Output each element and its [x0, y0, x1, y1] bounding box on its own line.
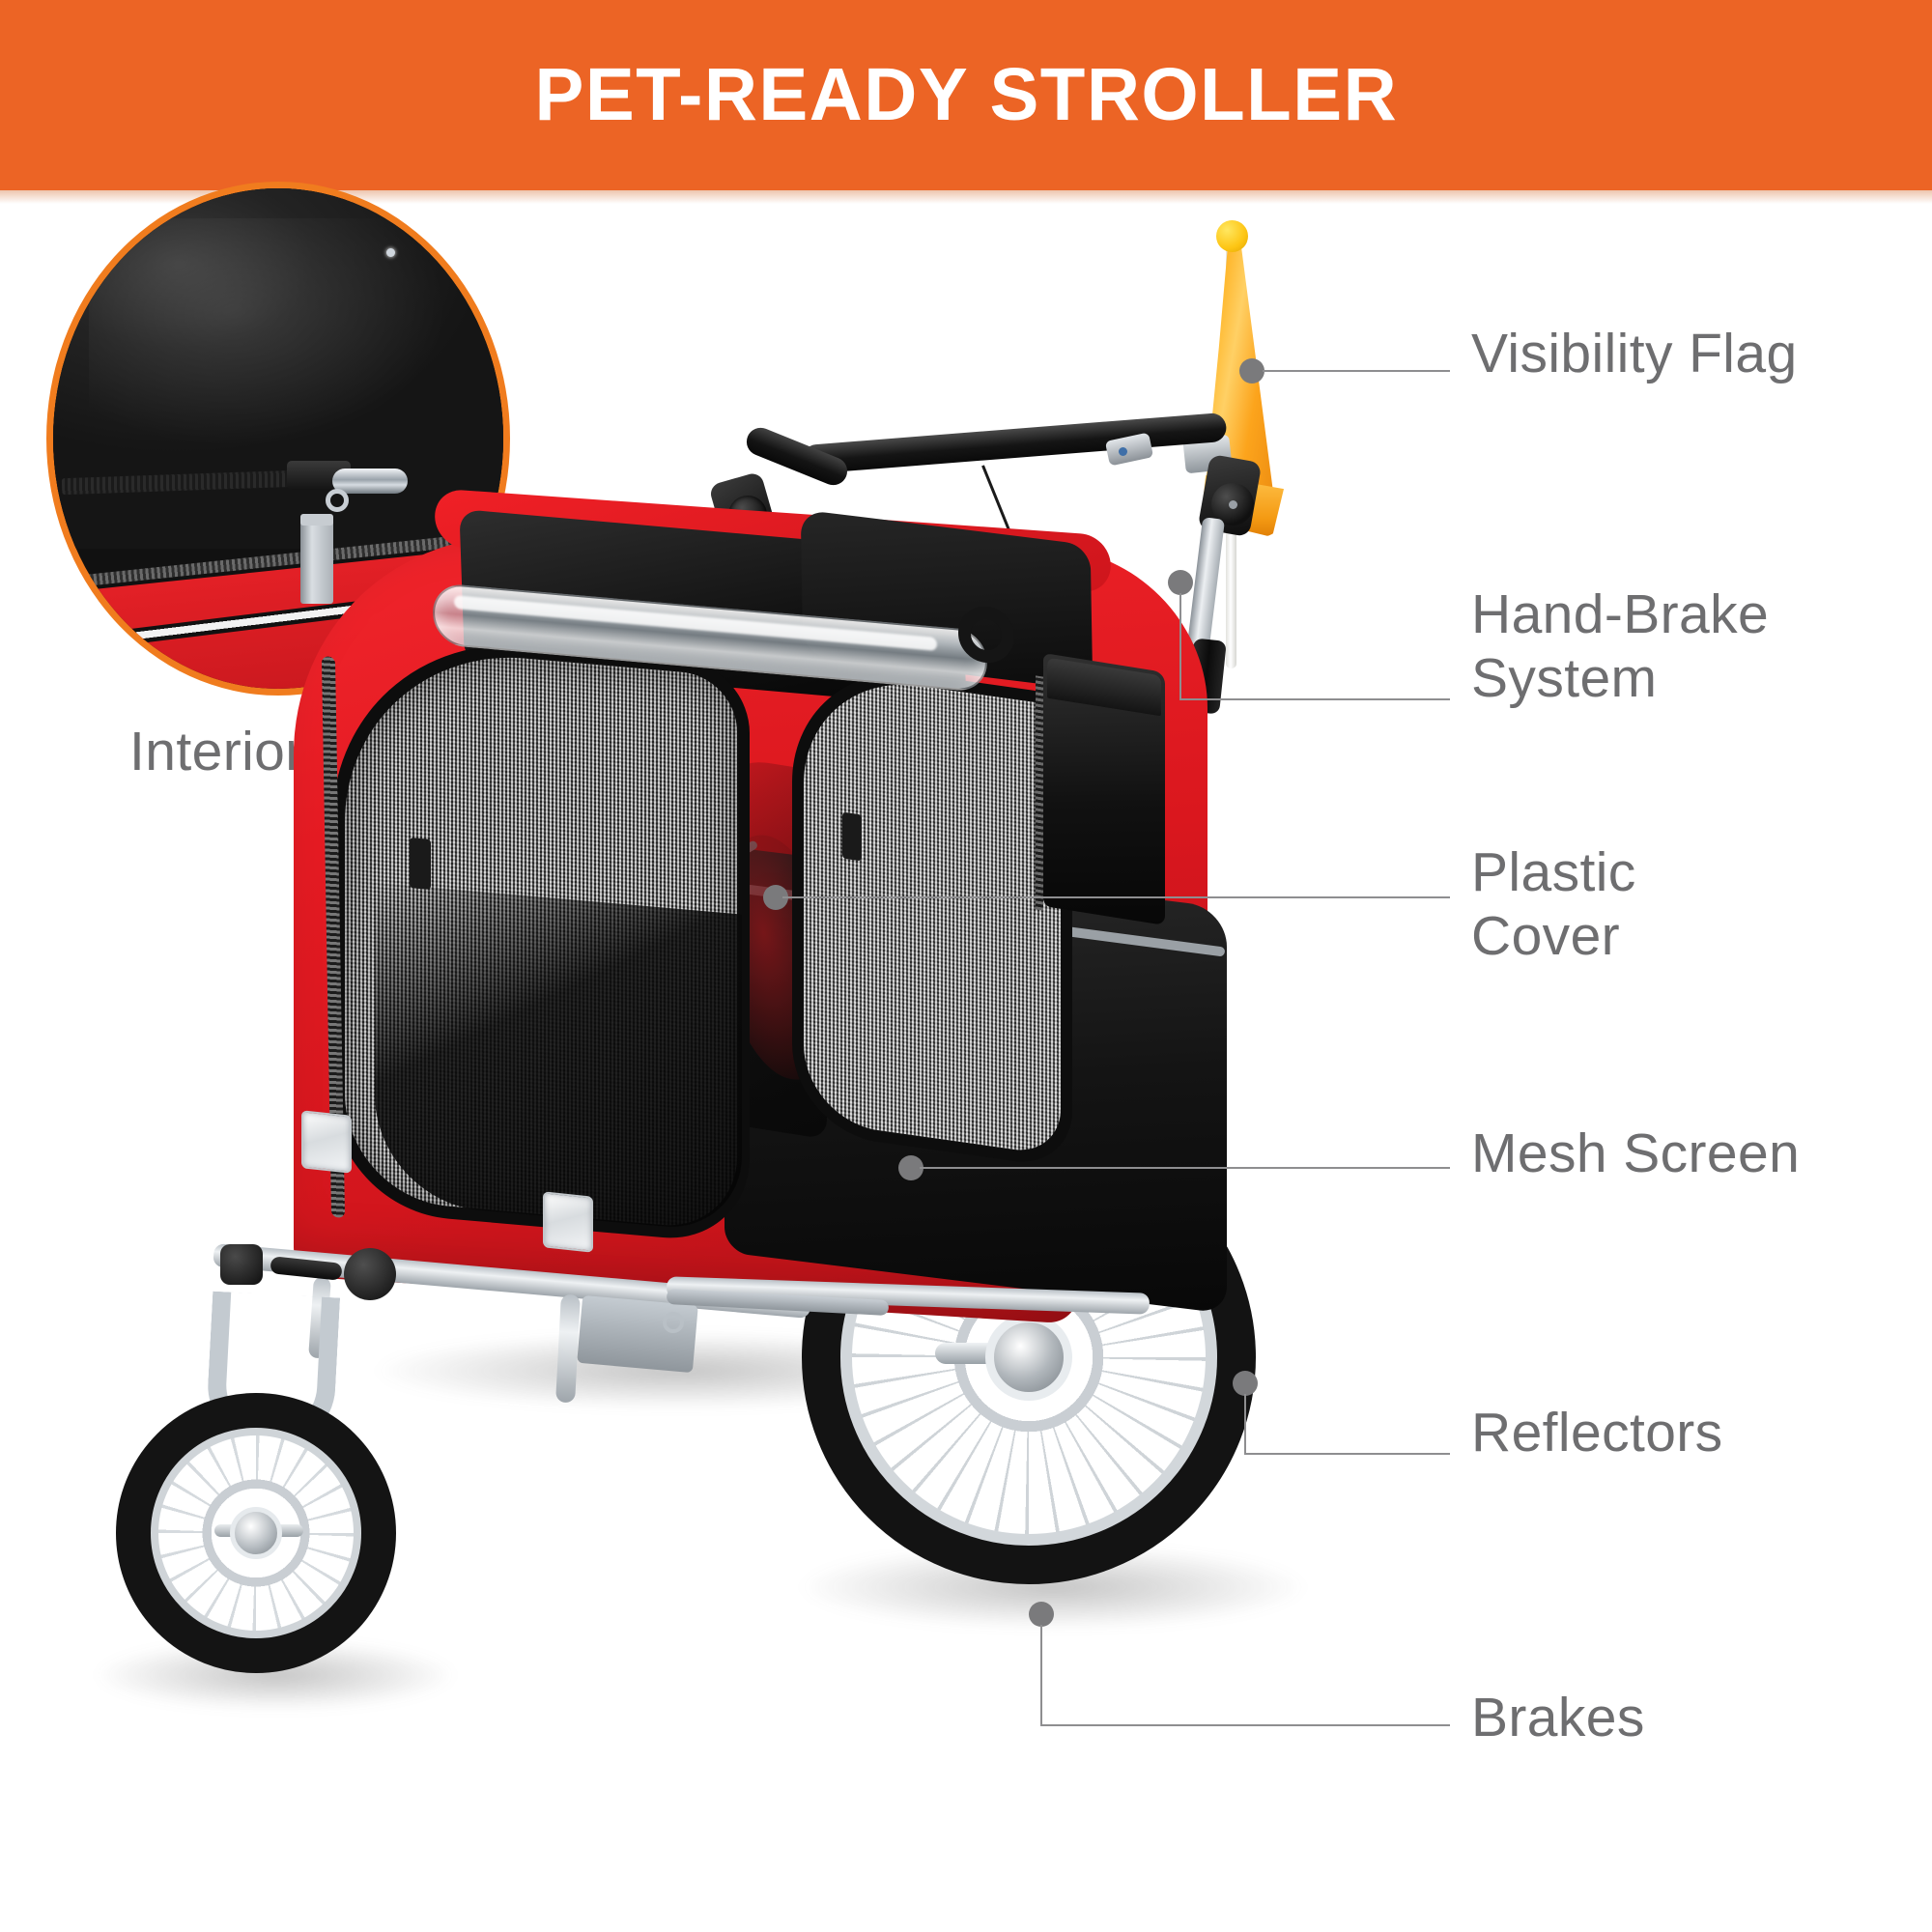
- white-reflector-side: [543, 1191, 593, 1252]
- leader-line-brakes-vertical: [1040, 1625, 1042, 1725]
- callout-label-plastic-cover: Plastic Cover: [1471, 840, 1636, 968]
- bike-hitch-plate: [577, 1295, 698, 1373]
- page-title: PET-READY STROLLER: [534, 58, 1398, 132]
- leader-dot-hand-brake: [1168, 570, 1193, 595]
- rear-wheel-hub: [985, 1314, 1072, 1401]
- infographic-page: PET-READY STROLLER Interior Security Lea…: [0, 0, 1932, 1932]
- callout-label-hand-brake-system: Hand-Brake System: [1471, 582, 1769, 710]
- leader-dot-brakes: [1029, 1602, 1054, 1627]
- handlebar-foam-grip: [802, 412, 1228, 474]
- callout-label-brakes: Brakes: [1471, 1686, 1645, 1749]
- side-mesh-screen: [792, 657, 1072, 1170]
- front-mesh-shadow: [375, 882, 742, 1233]
- leader-line-brakes-horizontal: [1040, 1724, 1450, 1726]
- flag-ball-tip: [1216, 220, 1248, 252]
- front-wheel-hub: [230, 1507, 282, 1559]
- product-photo-pet-stroller: [126, 222, 1410, 1884]
- hand-brake-knob-pin: [1229, 500, 1237, 509]
- callout-label-reflectors: Reflectors: [1471, 1401, 1723, 1464]
- leader-line-hand-brake-horizontal: [1179, 698, 1450, 700]
- leader-line-hand-brake-vertical: [1179, 593, 1181, 699]
- callout-label-visibility-flag: Visibility Flag: [1471, 322, 1798, 385]
- leader-dot-visibility-flag: [1239, 358, 1264, 384]
- leader-line-reflectors-vertical: [1244, 1394, 1246, 1454]
- leader-line-visibility-flag: [1263, 370, 1450, 372]
- hand-brake-lever-pin: [1119, 447, 1127, 456]
- callout-label-mesh-screen: Mesh Screen: [1471, 1122, 1800, 1185]
- white-reflector-front: [301, 1110, 352, 1173]
- leader-line-reflectors-horizontal: [1244, 1453, 1450, 1455]
- front-mesh-pull-tab: [410, 838, 431, 890]
- leader-line-plastic-cover: [782, 896, 1450, 898]
- leader-line-mesh-screen: [920, 1167, 1450, 1169]
- side-mesh-pull-tab: [842, 812, 862, 862]
- header-banner: PET-READY STROLLER: [0, 0, 1932, 190]
- swivel-lock-knob: [220, 1244, 263, 1285]
- storage-pocket-zipper: [1036, 675, 1043, 910]
- leader-dot-reflectors: [1233, 1371, 1258, 1396]
- wheel-release-knob: [344, 1248, 396, 1300]
